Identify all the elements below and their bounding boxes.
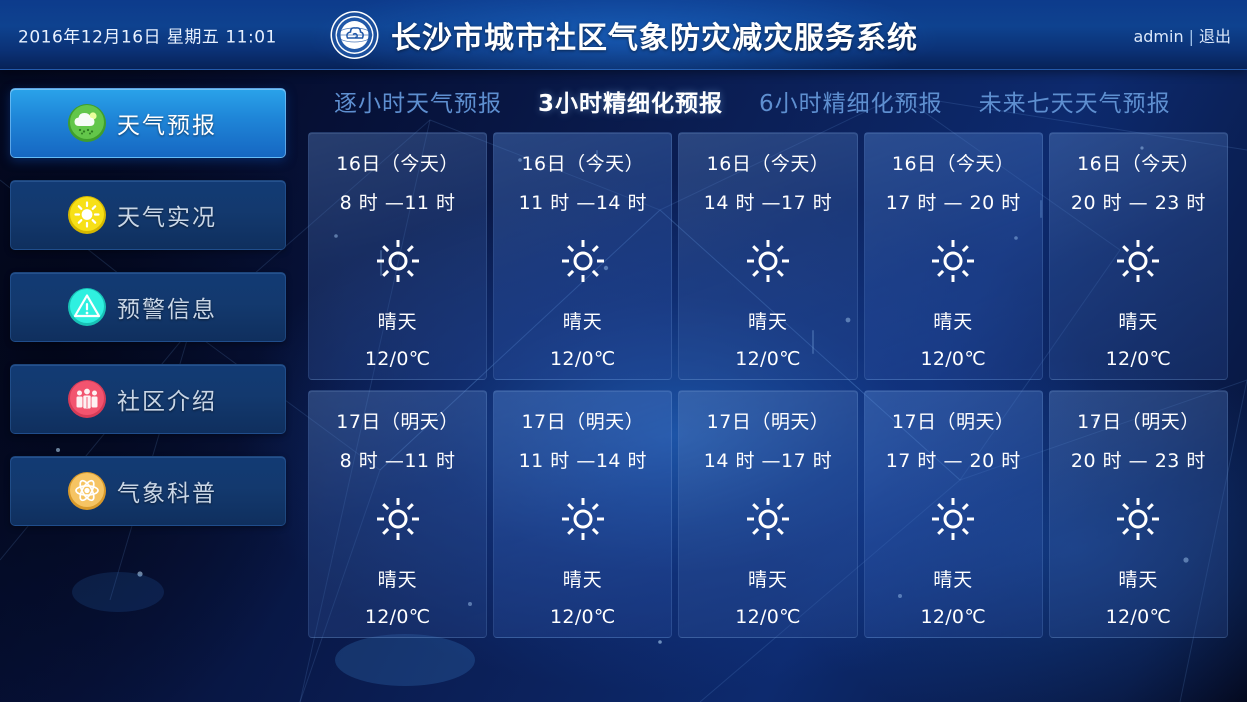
forecast-description: 晴天 [563, 565, 603, 592]
forecast-card[interactable]: 16日（今天） 14 时 —17 时 晴天 12/0℃ [678, 132, 857, 380]
forecast-description: 晴天 [1118, 307, 1158, 334]
forecast-time-range: 20 时 — 23 时 [1071, 446, 1206, 473]
forecast-card[interactable]: 17日（明天） 11 时 —14 时 晴天 12/0℃ [493, 390, 672, 638]
forecast-time-range: 8 时 —11 时 [340, 446, 456, 473]
forecast-time-range: 11 时 —14 时 [519, 446, 647, 473]
people-group-icon [67, 379, 107, 419]
cloud-rain-icon [67, 103, 107, 143]
sidebar-item-science-popularization[interactable]: 气象科普 [10, 456, 286, 526]
forecast-date: 16日（今天） [1077, 149, 1200, 176]
forecast-time-range: 14 时 —17 时 [704, 188, 832, 215]
sidebar-item-label: 社区介绍 [117, 382, 217, 416]
forecast-description: 晴天 [748, 565, 788, 592]
forecast-row-today: 16日（今天） 8 时 —11 时 晴天 12/0℃ 16日（今天） 11 时 … [308, 132, 1228, 380]
warning-triangle-icon [67, 287, 107, 327]
atom-icon [67, 471, 107, 511]
forecast-description: 晴天 [563, 307, 603, 334]
sidebar-item-label: 气象科普 [117, 474, 217, 508]
forecast-temperature: 12/0℃ [1106, 348, 1172, 370]
forecast-card[interactable]: 16日（今天） 8 时 —11 时 晴天 12/0℃ [308, 132, 487, 380]
sun-icon [559, 495, 607, 543]
sun-icon [374, 237, 422, 285]
forecast-temperature: 12/0℃ [550, 348, 616, 370]
forecast-description: 晴天 [1118, 565, 1158, 592]
forecast-temperature: 12/0℃ [920, 606, 986, 628]
tab-3hour-forecast[interactable]: 3小时精细化预报 [520, 84, 741, 118]
forecast-description: 晴天 [378, 307, 418, 334]
sun-icon [929, 495, 977, 543]
forecast-card[interactable]: 17日（明天） 8 时 —11 时 晴天 12/0℃ [308, 390, 487, 638]
forecast-card[interactable]: 17日（明天） 20 时 — 23 时 晴天 12/0℃ [1049, 390, 1228, 638]
sun-icon [1114, 237, 1162, 285]
forecast-date: 17日（明天） [1077, 407, 1200, 434]
forecast-date: 16日（今天） [521, 149, 644, 176]
forecast-tab-bar: 逐小时天气预报 3小时精细化预报 6小时精细化预报 未来七天天气预报 [308, 70, 1228, 132]
tab-hourly-forecast[interactable]: 逐小时天气预报 [316, 84, 520, 118]
sidebar-item-label: 天气预报 [117, 106, 217, 140]
forecast-date: 16日（今天） [707, 149, 830, 176]
forecast-description: 晴天 [378, 565, 418, 592]
tab-seven-day-forecast[interactable]: 未来七天天气预报 [961, 84, 1189, 118]
forecast-time-range: 11 时 —14 时 [519, 188, 647, 215]
logout-button[interactable]: 退出 [1199, 27, 1231, 46]
header-datetime: 2016年12月16日 星期五 11:01 [18, 22, 277, 47]
forecast-temperature: 12/0℃ [550, 606, 616, 628]
sidebar-item-community-intro[interactable]: 社区介绍 [10, 364, 286, 434]
application-root: 2016年12月16日 星期五 11:01 长沙市城市社区气象防灾减灾服务系统 [0, 0, 1247, 702]
forecast-card[interactable]: 16日（今天） 11 时 —14 时 晴天 12/0℃ [493, 132, 672, 380]
header-user-area: admin|退出 [1133, 23, 1231, 47]
forecast-time-range: 17 时 — 20 时 [886, 446, 1021, 473]
user-name-label[interactable]: admin [1133, 27, 1183, 46]
sun-icon [744, 495, 792, 543]
forecast-row-tomorrow: 17日（明天） 8 时 —11 时 晴天 12/0℃ 17日（明天） 11 时 … [308, 390, 1228, 638]
sun-icon [374, 495, 422, 543]
forecast-card[interactable]: 17日（明天） 14 时 —17 时 晴天 12/0℃ [678, 390, 857, 638]
forecast-time-range: 20 时 — 23 时 [1071, 188, 1206, 215]
forecast-temperature: 12/0℃ [735, 606, 801, 628]
forecast-time-range: 14 时 —17 时 [704, 446, 832, 473]
app-header: 2016年12月16日 星期五 11:01 长沙市城市社区气象防灾减灾服务系统 [0, 0, 1247, 70]
forecast-time-range: 17 时 — 20 时 [886, 188, 1021, 215]
forecast-date: 17日（明天） [707, 407, 830, 434]
forecast-date: 17日（明天） [336, 407, 459, 434]
sidebar-nav: 天气预报 [0, 70, 300, 702]
forecast-card[interactable]: 16日（今天） 17 时 — 20 时 晴天 12/0℃ [864, 132, 1043, 380]
forecast-time-range: 8 时 —11 时 [340, 188, 456, 215]
cma-cloud-emblem-icon [329, 10, 379, 60]
body-wrapper: 天气预报 [0, 70, 1247, 702]
user-separator: | [1189, 27, 1194, 46]
forecast-temperature: 12/0℃ [920, 348, 986, 370]
page-title: 长沙市城市社区气象防灾减灾服务系统 [391, 13, 918, 57]
header-brand: 长沙市城市社区气象防灾减灾服务系统 [329, 10, 918, 60]
sidebar-item-warning-info[interactable]: 预警信息 [10, 272, 286, 342]
forecast-date: 17日（明天） [521, 407, 644, 434]
sun-icon [1114, 495, 1162, 543]
forecast-description: 晴天 [748, 307, 788, 334]
forecast-card[interactable]: 16日（今天） 20 时 — 23 时 晴天 12/0℃ [1049, 132, 1228, 380]
sidebar-item-label: 预警信息 [117, 290, 217, 324]
forecast-temperature: 12/0℃ [1106, 606, 1172, 628]
forecast-description: 晴天 [933, 565, 973, 592]
forecast-card[interactable]: 17日（明天） 17 时 — 20 时 晴天 12/0℃ [864, 390, 1043, 638]
sidebar-item-weather-observation[interactable]: 天气实况 [10, 180, 286, 250]
forecast-temperature: 12/0℃ [735, 348, 801, 370]
tab-6hour-forecast[interactable]: 6小时精细化预报 [741, 84, 961, 118]
sun-icon [744, 237, 792, 285]
sun-icon [929, 237, 977, 285]
forecast-card-grid: 16日（今天） 8 时 —11 时 晴天 12/0℃ 16日（今天） 11 时 … [308, 132, 1228, 702]
sun-icon [67, 195, 107, 235]
forecast-temperature: 12/0℃ [365, 348, 431, 370]
sidebar-item-label: 天气实况 [117, 198, 217, 232]
forecast-date: 16日（今天） [336, 149, 459, 176]
forecast-date: 16日（今天） [892, 149, 1015, 176]
main-content: 逐小时天气预报 3小时精细化预报 6小时精细化预报 未来七天天气预报 16日（今… [300, 70, 1247, 702]
forecast-description: 晴天 [933, 307, 973, 334]
sidebar-item-weather-forecast[interactable]: 天气预报 [10, 88, 286, 158]
forecast-date: 17日（明天） [892, 407, 1015, 434]
forecast-temperature: 12/0℃ [365, 606, 431, 628]
sun-icon [559, 237, 607, 285]
